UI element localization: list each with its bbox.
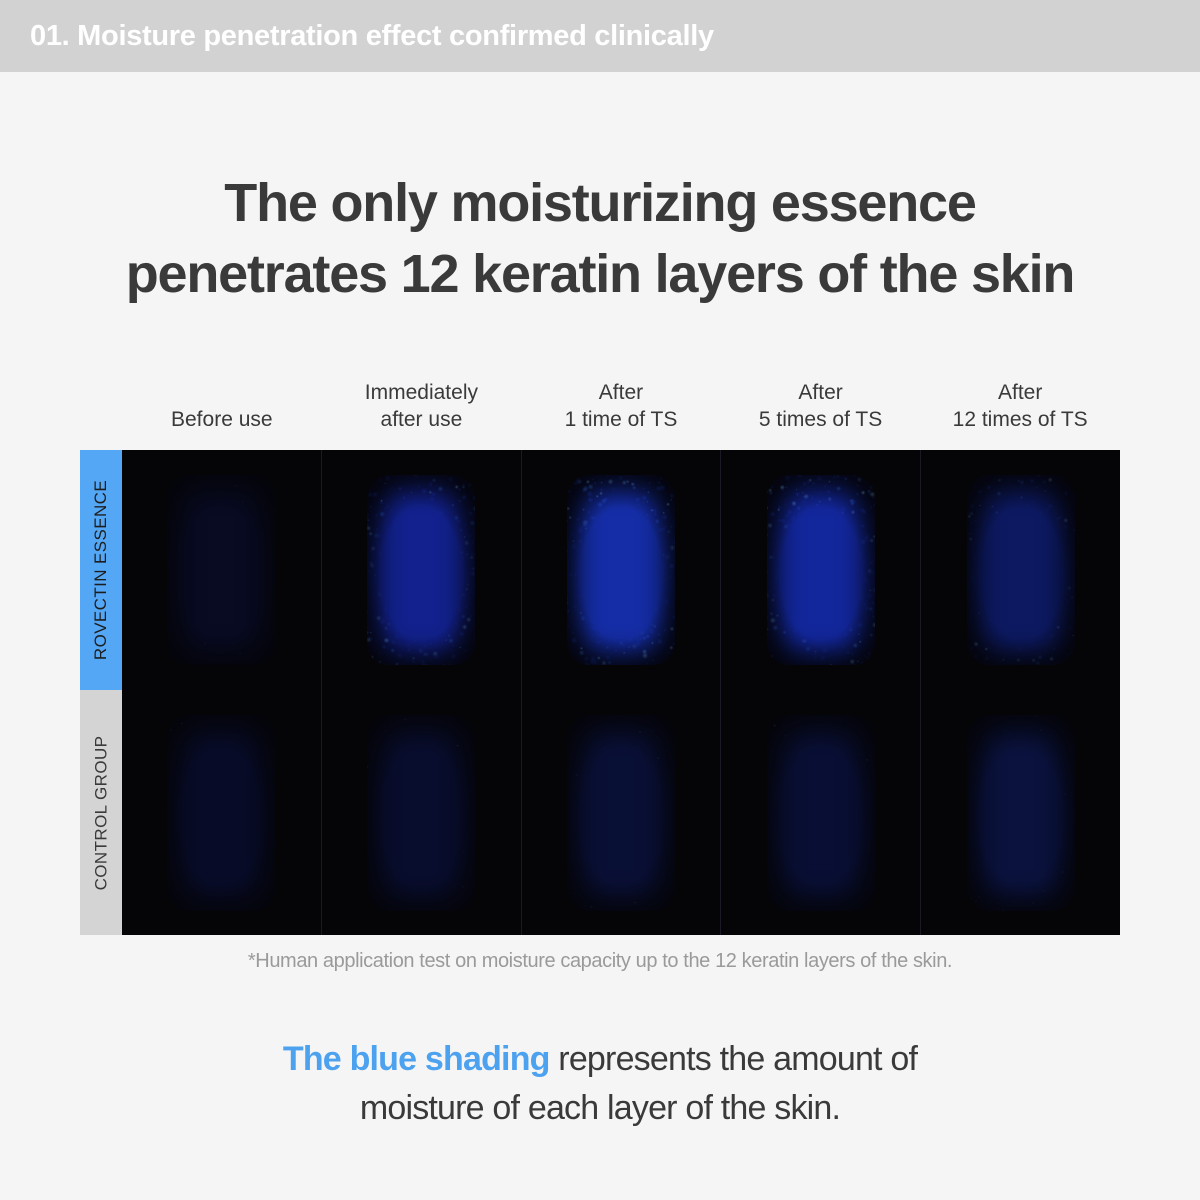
headline-line-1: The only moisturizing essence	[0, 168, 1200, 239]
column-header-line-1: Immediately	[365, 380, 478, 407]
headline-line-2: penetrates 12 keratin layers of the skin	[0, 239, 1200, 310]
column-header-line-1: After	[599, 380, 643, 407]
row-label-rovectin-essence: ROVECTIN ESSENCE	[80, 450, 122, 690]
sample-image	[567, 475, 675, 665]
row-label-text: CONTROL GROUP	[91, 735, 111, 890]
sample-image	[967, 475, 1075, 665]
page-title: The only moisturizing essence penetrates…	[0, 168, 1200, 311]
sample-image	[167, 715, 275, 911]
sample-image	[367, 715, 475, 911]
column-header-after-5-times: After 5 times of TS	[721, 376, 921, 438]
caption-line-2: moisture of each layer of the skin.	[0, 1084, 1200, 1133]
sample-image	[367, 475, 475, 665]
sample-image	[967, 715, 1075, 911]
column-header-immediately-after-use: Immediately after use	[322, 376, 522, 438]
column-header-line-1: After	[998, 380, 1042, 407]
column-header-before-use: Before use	[122, 376, 322, 438]
image-cell	[720, 690, 920, 935]
header-bar: 01. Moisture penetration effect confirme…	[0, 0, 1200, 72]
image-cell	[321, 690, 521, 935]
image-cell	[321, 450, 521, 690]
column-header-line-2: Before use	[171, 407, 273, 434]
row-label-control-group: CONTROL GROUP	[80, 690, 122, 935]
column-header-line-1: After	[798, 380, 842, 407]
caption: The blue shading represents the amount o…	[0, 1035, 1200, 1134]
image-cell	[920, 690, 1120, 935]
sample-image	[567, 715, 675, 911]
slide-root: 01. Moisture penetration effect confirme…	[0, 0, 1200, 1200]
fluorescence-image-grid: ROVECTIN ESSENCE CONTROL GROUP	[80, 450, 1120, 935]
column-header-line-2: 12 times of TS	[953, 407, 1088, 434]
footnote: *Human application test on moisture capa…	[0, 950, 1200, 973]
caption-accent: The blue shading	[283, 1040, 550, 1078]
image-cell	[122, 690, 321, 935]
row-label-column: ROVECTIN ESSENCE CONTROL GROUP	[80, 450, 122, 935]
image-cell	[920, 450, 1120, 690]
image-cell	[720, 450, 920, 690]
column-header-line-2: 1 time of TS	[565, 407, 678, 434]
column-header-row: Before use Immediately after use After 1…	[122, 376, 1120, 438]
sample-image	[167, 475, 275, 665]
image-panel	[122, 450, 1120, 935]
image-cell	[521, 690, 721, 935]
sample-image	[767, 475, 875, 665]
sample-image	[767, 715, 875, 911]
image-row-control-group	[122, 690, 1120, 935]
image-cell	[521, 450, 721, 690]
caption-rest: represents the amount of	[550, 1040, 917, 1078]
column-header-line-2: after use	[381, 407, 463, 434]
image-row-rovectin-essence	[122, 450, 1120, 690]
image-cell	[122, 450, 321, 690]
caption-line-1: The blue shading represents the amount o…	[0, 1035, 1200, 1084]
row-label-text: ROVECTIN ESSENCE	[91, 480, 111, 660]
header-title: 01. Moisture penetration effect confirme…	[30, 20, 714, 53]
column-header-after-12-times: After 12 times of TS	[920, 376, 1120, 438]
column-header-after-1-time: After 1 time of TS	[521, 376, 721, 438]
column-header-line-2: 5 times of TS	[759, 407, 882, 434]
